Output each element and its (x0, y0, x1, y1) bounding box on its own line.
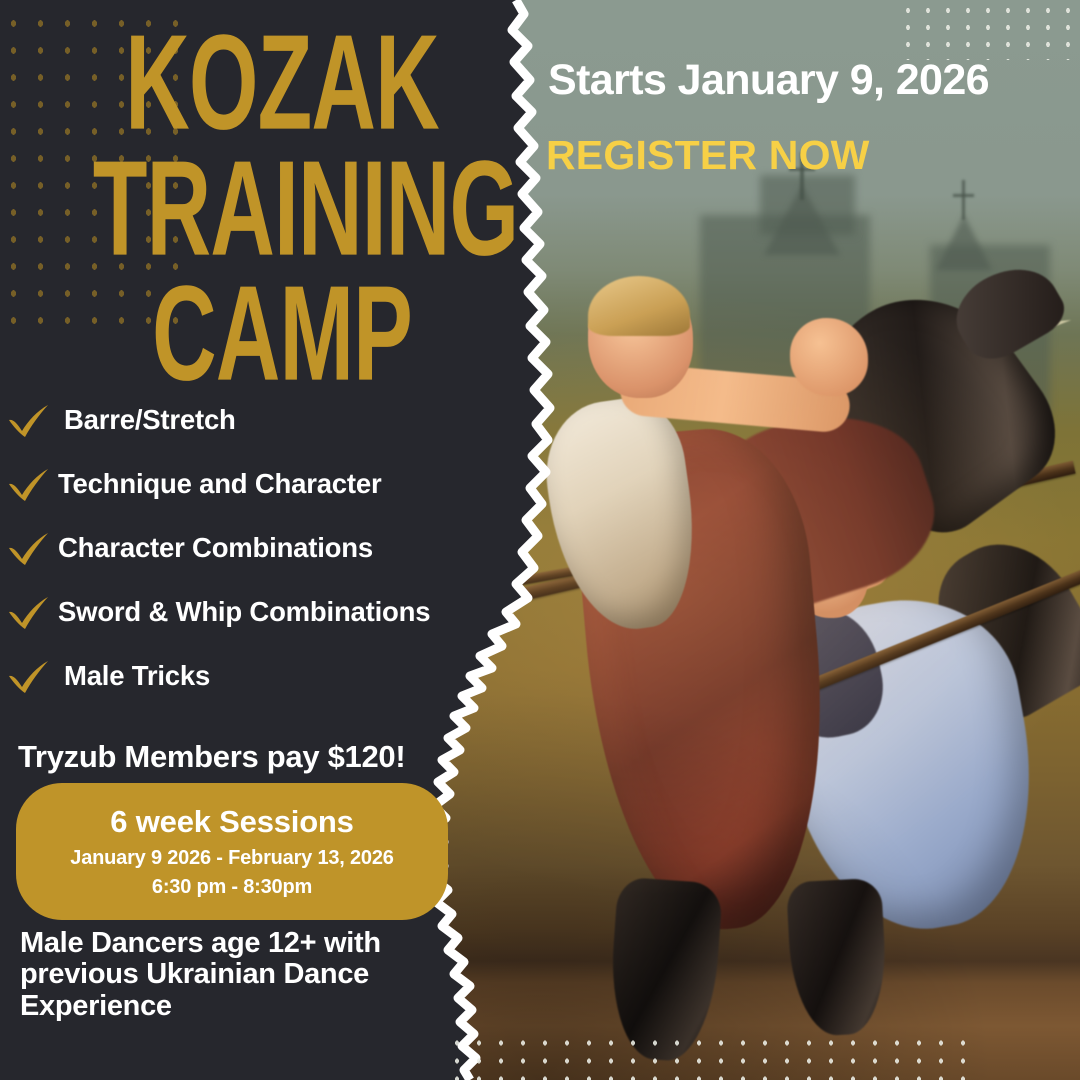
register-now-cta[interactable]: REGISTER NOW (546, 132, 870, 179)
session-info-card: 6 week Sessions January 9 2026 - Februar… (16, 783, 448, 920)
start-date-text: Starts January 9, 2026 (548, 56, 989, 105)
list-item: Barre/Stretch (0, 388, 470, 452)
checkmark-icon (0, 401, 58, 439)
list-item-label: Sword & Whip Combinations (58, 596, 430, 628)
poster-canvas: KOZAK TRAINING CAMP Barre/Stretch Techni… (0, 0, 1080, 1080)
page-title: KOZAK TRAINING CAMP (62, 22, 502, 369)
pricing-note: Tryzub Members pay $120! (18, 739, 405, 775)
list-item-label: Technique and Character (58, 468, 381, 500)
feature-list: Barre/Stretch Technique and Character Ch… (0, 388, 470, 708)
list-item: Sword & Whip Combinations (0, 580, 470, 644)
list-item-label: Character Combinations (58, 532, 373, 564)
list-item: Character Combinations (0, 516, 470, 580)
session-dates: January 9 2026 - February 13, 2026 (70, 847, 393, 870)
session-times: 6:30 pm - 8:30pm (152, 876, 312, 899)
checkmark-icon (0, 465, 58, 503)
checkmark-icon (0, 593, 58, 631)
checkmark-icon (0, 657, 58, 695)
list-item: Male Tricks (0, 644, 470, 708)
list-item-label: Male Tricks (64, 660, 210, 692)
list-item: Technique and Character (0, 452, 470, 516)
requirements-text: Male Dancers age 12+ with previous Ukrai… (20, 928, 450, 1022)
list-item-label: Barre/Stretch (64, 404, 236, 436)
checkmark-icon (0, 529, 58, 567)
title-line-training: TRAINING (93, 148, 471, 272)
session-title: 6 week Sessions (110, 804, 353, 840)
title-line-camp: CAMP (93, 273, 471, 397)
title-line-kozak: KOZAK (93, 22, 471, 146)
